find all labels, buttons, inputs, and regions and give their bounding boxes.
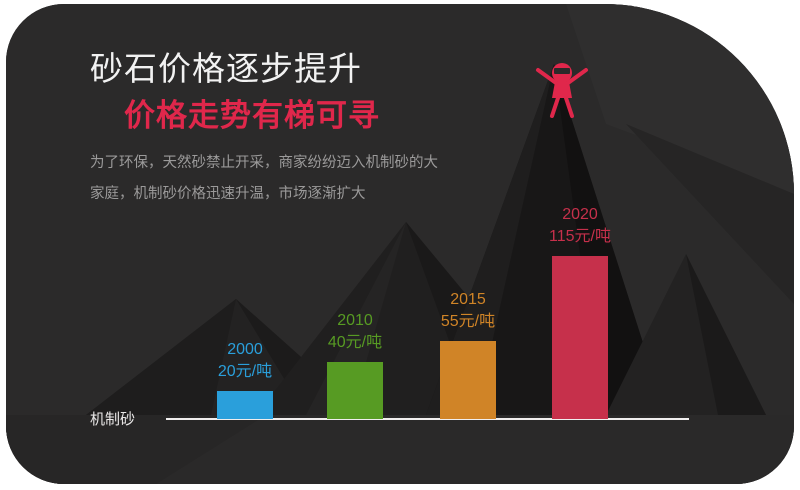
bar-price: 40元/吨 <box>295 332 415 354</box>
bar-year: 2010 <box>295 310 415 332</box>
dark-panel: 砂石价格逐步提升 价格走势有梯可寻 为了环保，天然砂禁止开采，商家纷纷迈入机制砂… <box>6 4 794 484</box>
bar-series: 200020元/吨201040元/吨201555元/吨2020115元/吨 <box>6 4 794 419</box>
bar-price: 55元/吨 <box>408 311 528 333</box>
bar-2010[interactable] <box>327 362 383 419</box>
bar-2015[interactable] <box>440 341 496 419</box>
bar-label-2000: 200020元/吨 <box>185 339 305 383</box>
bar-label-2020: 2020115元/吨 <box>520 204 640 248</box>
bar-label-2015: 201555元/吨 <box>408 289 528 333</box>
bar-2000[interactable] <box>217 391 273 419</box>
infographic-canvas: 砂石价格逐步提升 价格走势有梯可寻 为了环保，天然砂禁止开采，商家纷纷迈入机制砂… <box>0 0 800 490</box>
bar-2020[interactable] <box>552 256 608 419</box>
bar-label-2010: 201040元/吨 <box>295 310 415 354</box>
bar-year: 2015 <box>408 289 528 311</box>
bar-year: 2020 <box>520 204 640 226</box>
bar-price: 20元/吨 <box>185 361 305 383</box>
bar-price: 115元/吨 <box>520 226 640 248</box>
bar-year: 2000 <box>185 339 305 361</box>
